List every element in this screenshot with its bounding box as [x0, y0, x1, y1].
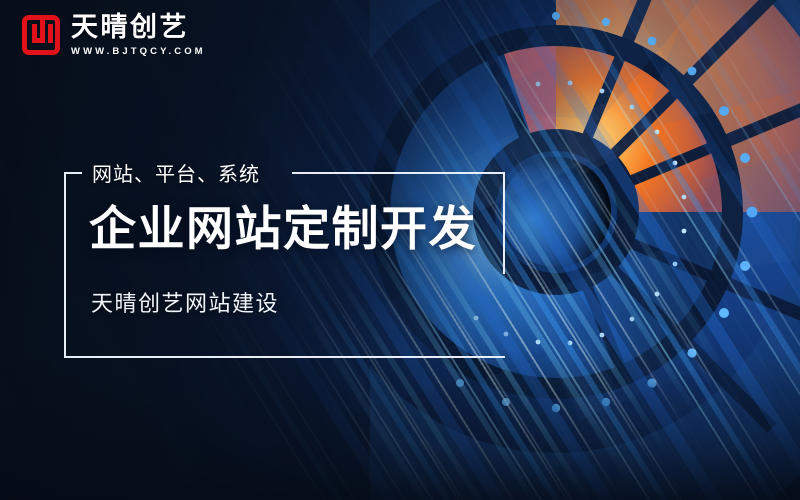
frame-right-line — [503, 172, 505, 274]
hero-text-block: 网站、平台、系统 企业网站定制开发 天晴创艺网站建设 — [64, 148, 516, 360]
brand-logo-text: 天晴创艺 WWW.BJTQCY.COM — [71, 14, 206, 56]
frame-top-stub — [64, 172, 82, 174]
tianqing-logo-icon — [22, 15, 60, 55]
brand-logo[interactable]: 天晴创艺 WWW.BJTQCY.COM — [22, 14, 206, 56]
frame-bottom-line — [64, 356, 505, 358]
hero-headline: 企业网站定制开发 — [89, 206, 477, 254]
brand-website-url: WWW.BJTQCY.COM — [71, 47, 206, 57]
hero-eyebrow: 网站、平台、系统 — [92, 158, 260, 187]
hero-subline: 天晴创艺网站建设 — [91, 286, 279, 318]
eyebrow-rule-line — [292, 172, 505, 174]
promo-banner: 天晴创艺 WWW.BJTQCY.COM 网站、平台、系统 企业网站定制开发 天晴… — [0, 0, 800, 500]
brand-name-cn: 天晴创艺 — [71, 14, 206, 42]
frame-left-line — [64, 172, 66, 358]
